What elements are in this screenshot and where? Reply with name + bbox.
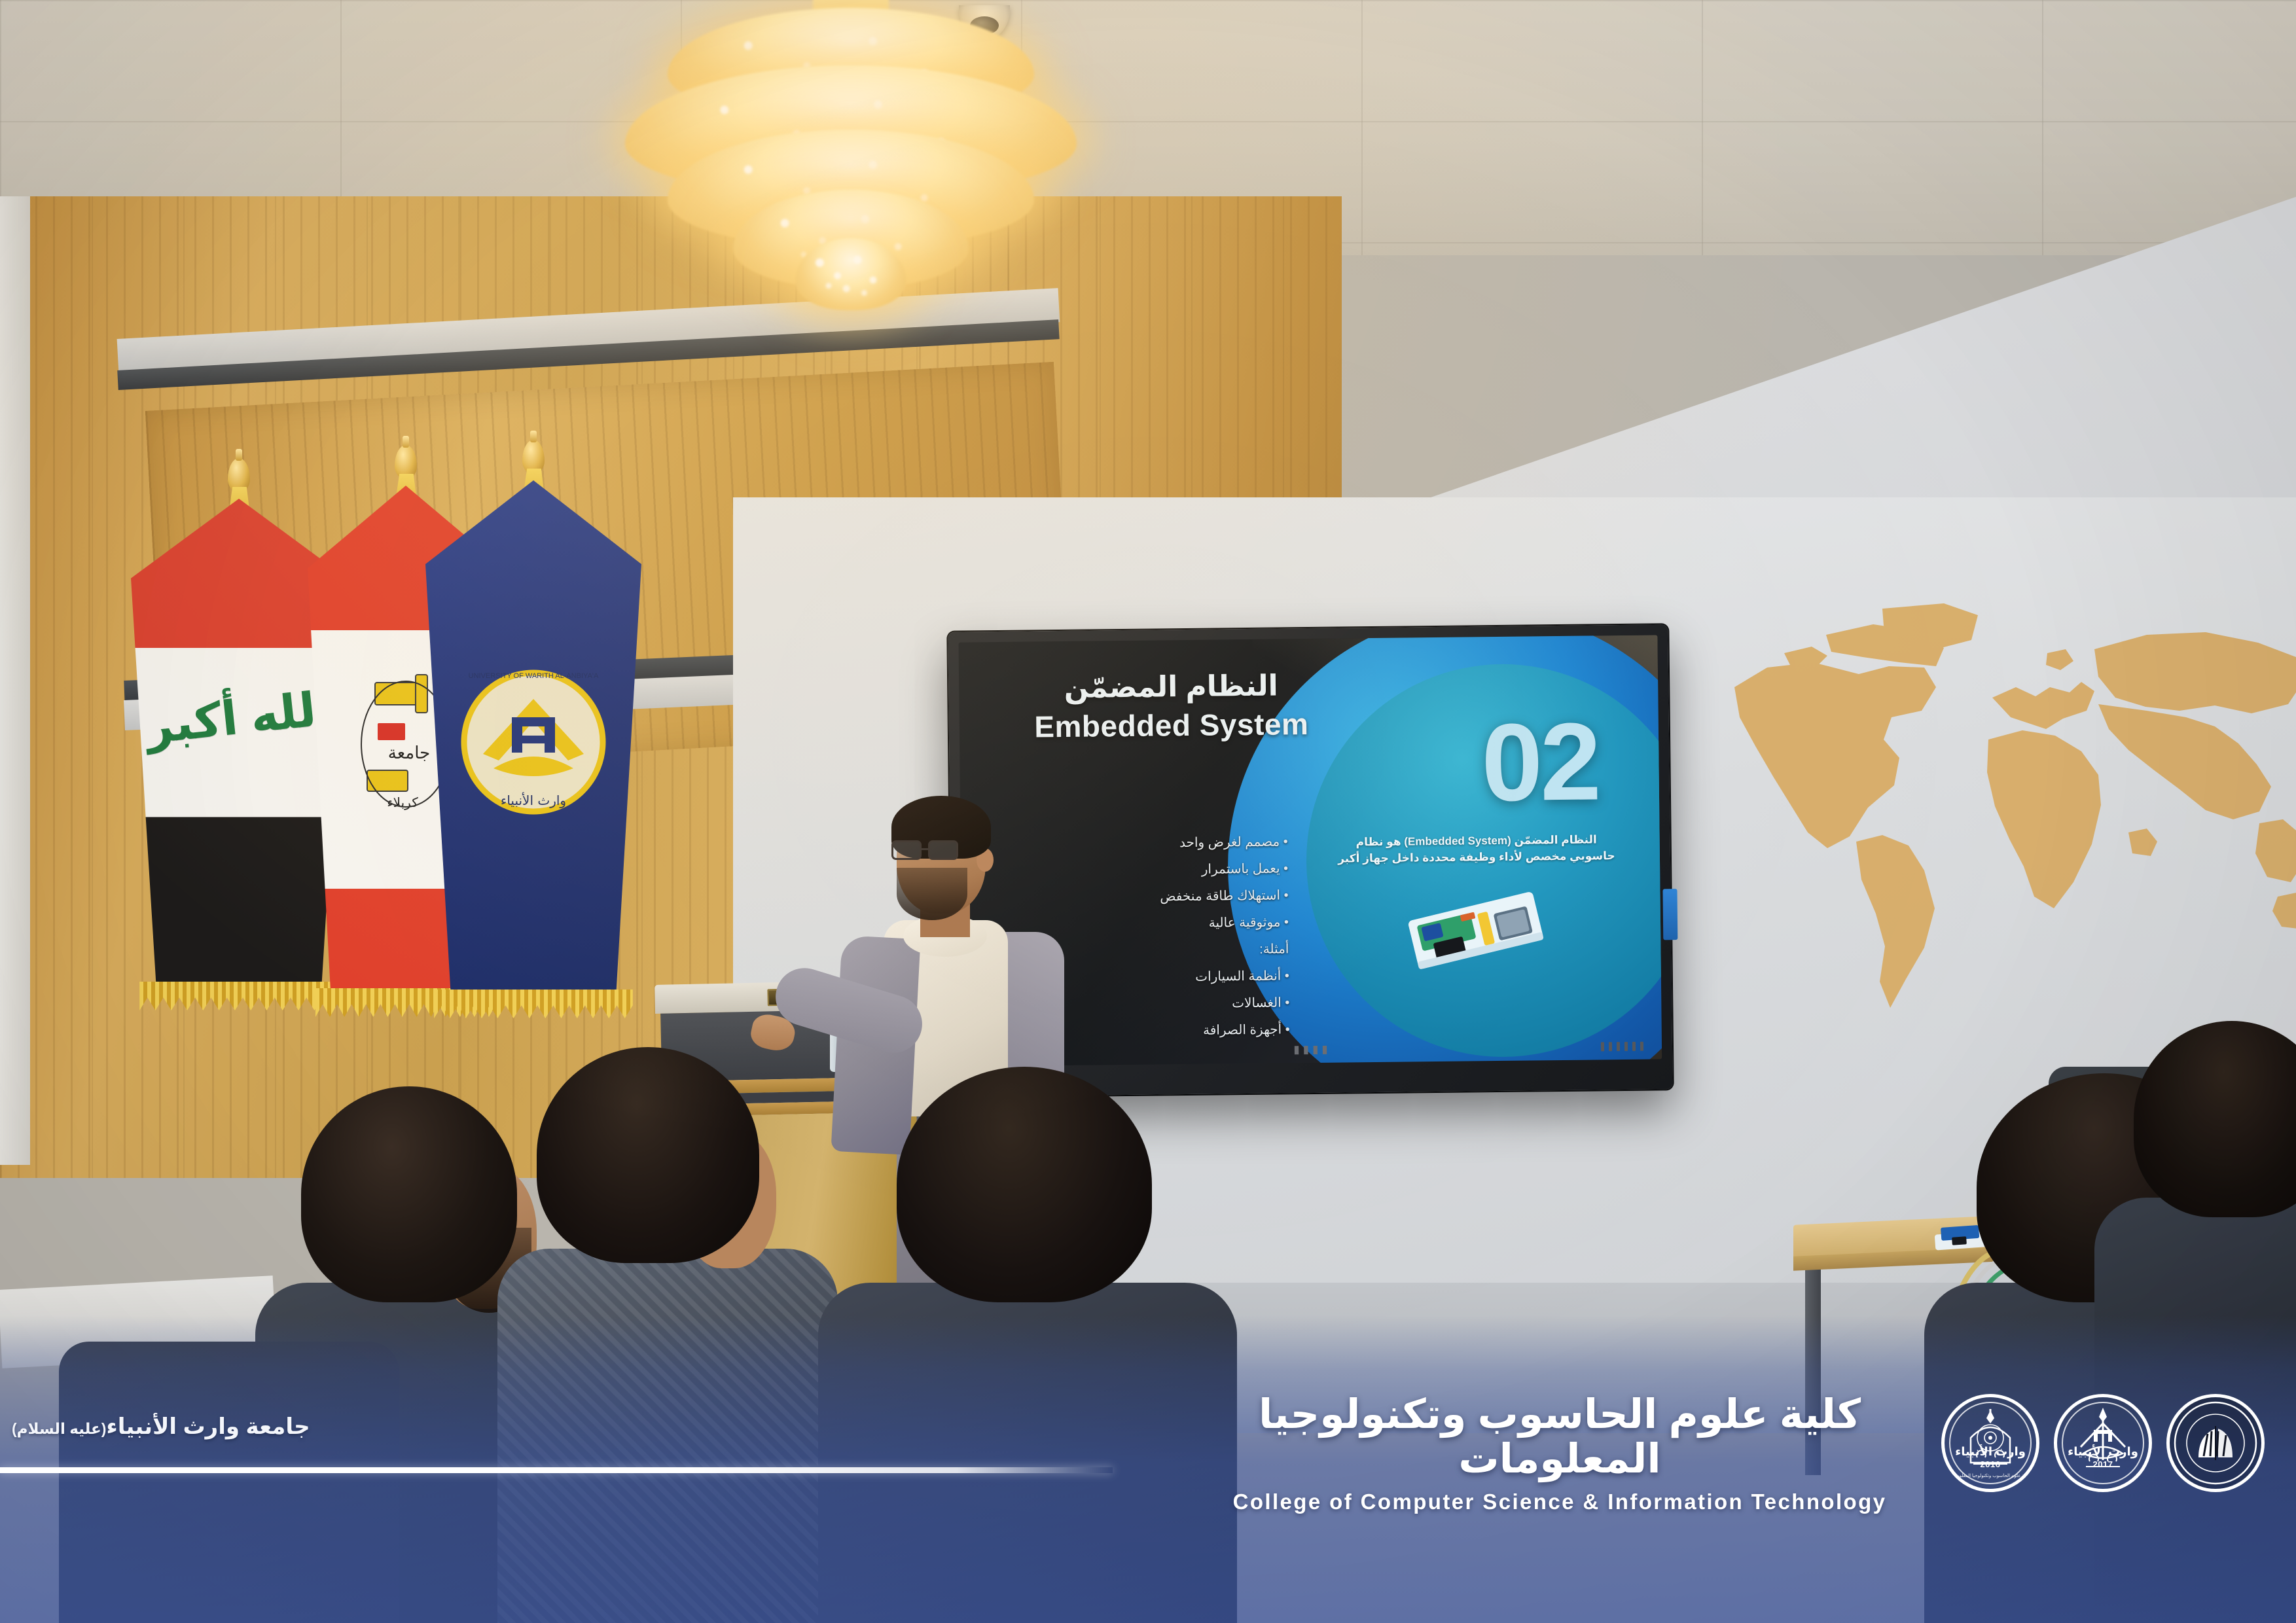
audience-member [851, 1067, 1191, 1623]
audience-hair [2134, 1021, 2296, 1217]
slide-bullet-heading: أمثلة: [1040, 942, 1289, 959]
slide-title: النظام المضمّن Embedded System [1001, 667, 1342, 744]
svg-text:وارث الأنبياء: وارث الأنبياء [501, 793, 566, 808]
audience-hair [537, 1047, 759, 1263]
slide-title-arabic: النظام المضمّن [1001, 667, 1342, 706]
svg-text:UNIVERSITY OF WARITH AL-ANBIYA: UNIVERSITY OF WARITH AL-ANBIYA'A [469, 672, 599, 680]
wall-pillar [0, 196, 30, 1165]
slide-number: 02 [1481, 706, 1600, 817]
slide-bullet: يعمل باستمرار [1039, 862, 1288, 878]
iraq-flag-script: الله أكبر [143, 681, 335, 755]
desk-leg [1805, 1259, 1821, 1475]
world-map-decal [1728, 589, 2296, 1047]
audience-body [818, 1283, 1237, 1623]
audience-member [2134, 1021, 2296, 1623]
audience-member [504, 1047, 792, 1623]
slide-title-english: Embedded System [1001, 705, 1342, 744]
display-indicator-dots [1601, 1042, 1643, 1052]
audience-body [497, 1249, 838, 1623]
audience-hair [897, 1067, 1152, 1302]
flag-cloth: وارث الأنبياء UNIVERSITY OF WARITH AL-AN… [425, 480, 641, 1004]
eyeglasses-icon [891, 840, 967, 860]
chandelier-tier [795, 238, 906, 310]
panel-side-button-right[interactable] [1662, 889, 1677, 940]
slide-description: النظام المضمّن (Embedded System) هو نظام… [1333, 832, 1621, 867]
slide-bullet: استهلاك طاقة منخفض [1039, 889, 1288, 905]
lecture-hall-photo: الله أكبر جامعة كربلاء [0, 0, 2296, 1623]
university-flag-blue: وارث الأنبياء UNIVERSITY OF WARITH AL-AN… [425, 440, 641, 1029]
audience-body [2094, 1198, 2296, 1623]
slide-bullet: موثوقية عالية [1040, 916, 1289, 932]
slide-bullet-list: مصمم لغرض واحد يعمل باستمرار استهلاك طاق… [1039, 835, 1316, 1052]
college-name-en: College of Computer Science & Informatio… [1206, 1489, 1913, 1514]
svg-text:جامعة: جامعة [388, 743, 430, 763]
crystal-chandelier [589, 0, 1113, 314]
university-emblem-icon: وارث الأنبياء UNIVERSITY OF WARITH AL-AN… [452, 644, 615, 840]
audience-hair [301, 1086, 517, 1302]
slide-bullet: الغسالات [1041, 996, 1289, 1012]
svg-text:كربلاء: كربلاء [387, 794, 418, 810]
slide-bullet: مصمم لغرض واحد [1039, 835, 1288, 851]
presenter-beard [897, 868, 967, 920]
flag-fringe [434, 990, 633, 1018]
front-row-chair [59, 1342, 399, 1623]
display-brand-mark: ▮▮▮▮ [1293, 1043, 1331, 1057]
slide-bullet: أنظمة السيارات [1041, 969, 1289, 986]
